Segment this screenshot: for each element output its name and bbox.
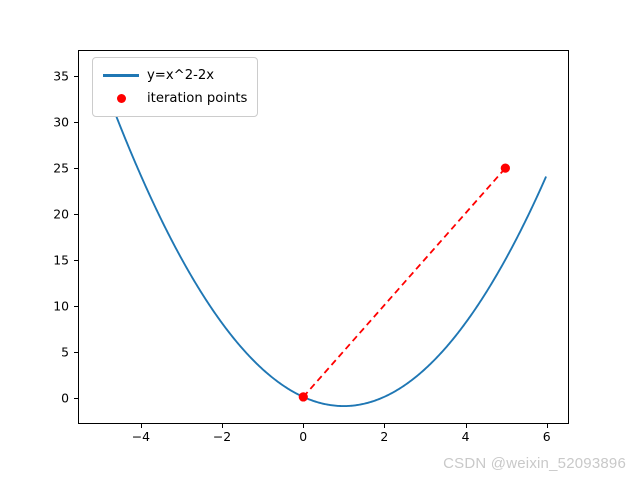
legend-box: y=x^2-2x iteration points <box>92 57 258 117</box>
x-tick-label: −2 <box>213 429 231 444</box>
y-tick-label: 20 <box>53 206 69 221</box>
y-tick-label: 10 <box>53 298 69 313</box>
csdn-watermark: CSDN @weixin_52093896 <box>443 455 626 472</box>
y-tick-mark <box>74 352 78 353</box>
x-tick-label: 6 <box>543 429 551 444</box>
y-tick-mark <box>74 214 78 215</box>
y-tick-mark <box>74 76 78 77</box>
legend-entry-curve: y=x^2-2x <box>100 64 247 87</box>
legend-entry-points: iteration points <box>100 87 247 110</box>
x-tick-mark <box>384 424 385 428</box>
x-tick-mark <box>141 424 142 428</box>
x-tick-label: −4 <box>132 429 150 444</box>
iteration-point <box>501 164 510 173</box>
x-tick-label: 2 <box>380 429 388 444</box>
y-tick-mark <box>74 398 78 399</box>
x-tick-mark <box>222 424 223 428</box>
x-tick-label: 4 <box>462 429 470 444</box>
matplotlib-figure: −4−20246 05101520253035 y=x^2-2x iterati… <box>0 0 640 480</box>
y-tick-label: 5 <box>61 344 69 359</box>
x-tick-mark <box>303 424 304 428</box>
legend-dot-swatch-icon <box>100 94 142 103</box>
legend-label-curve: y=x^2-2x <box>142 68 214 83</box>
parabola-curve <box>101 77 546 406</box>
y-tick-mark <box>74 122 78 123</box>
x-tick-mark <box>466 424 467 428</box>
legend-line-swatch-icon <box>100 74 142 76</box>
y-tick-label: 25 <box>53 160 69 175</box>
y-tick-mark <box>74 168 78 169</box>
y-tick-label: 30 <box>53 114 69 129</box>
x-tick-label: 0 <box>299 429 307 444</box>
iteration-point <box>299 392 308 401</box>
y-tick-label: 15 <box>53 252 69 267</box>
y-tick-mark <box>74 306 78 307</box>
legend-label-points: iteration points <box>142 91 247 106</box>
iteration-connector-line <box>303 168 505 397</box>
y-tick-mark <box>74 260 78 261</box>
y-tick-label: 35 <box>53 68 69 83</box>
y-tick-label: 0 <box>61 390 69 405</box>
x-tick-mark <box>547 424 548 428</box>
